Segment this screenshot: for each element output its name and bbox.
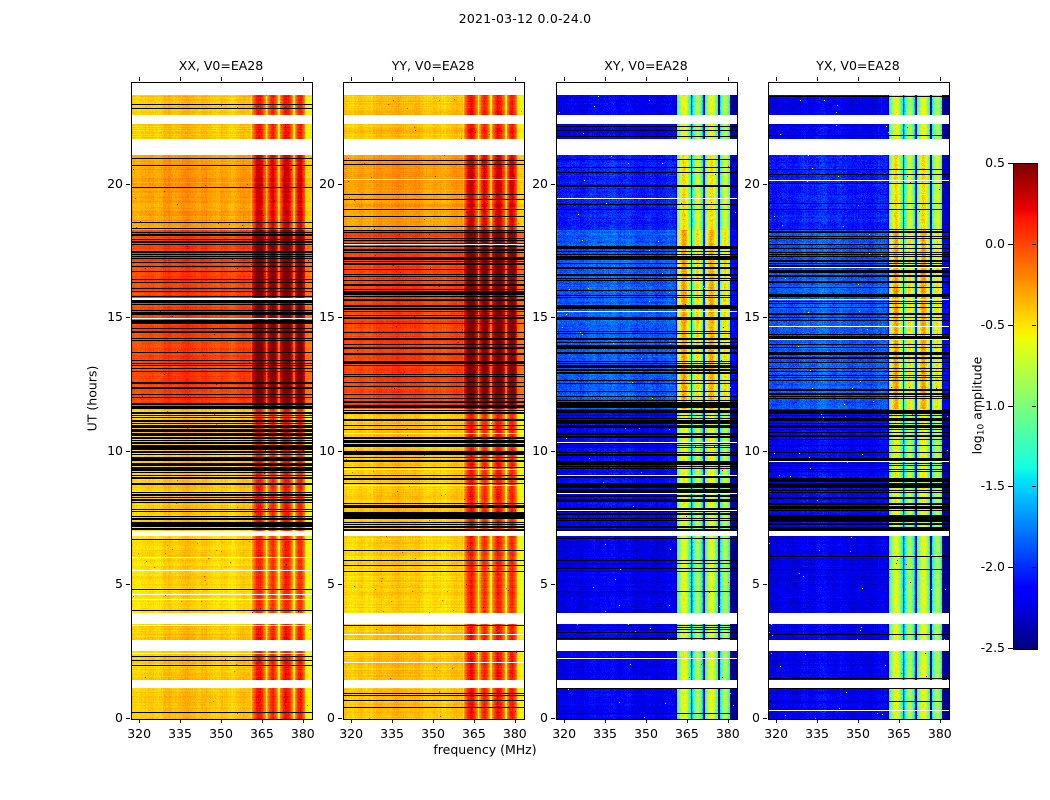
waterfall-panel-yx[interactable] bbox=[768, 82, 950, 720]
panel-title-yy: YY, V0=EA28 bbox=[343, 58, 523, 73]
y-tick-xx-5 bbox=[126, 584, 130, 585]
y-tick-yy-5 bbox=[338, 584, 342, 585]
y-ticklabel-xy-0: 0 bbox=[494, 710, 548, 725]
x-tick-yx-365 bbox=[899, 719, 900, 723]
colorbar-tick-neg0p5 bbox=[1008, 325, 1013, 326]
x-tick-yx-350 bbox=[858, 719, 859, 723]
x-ticklabel-xx-380: 380 bbox=[278, 726, 328, 741]
y-tick-yx-0 bbox=[763, 718, 767, 719]
colorbar-tick-neg1 bbox=[1008, 406, 1013, 407]
x-tick-top-yx-380 bbox=[940, 77, 941, 81]
x-ticklabel-yy-380: 380 bbox=[490, 726, 540, 741]
colorbar-inner-tick-2 bbox=[1032, 325, 1036, 326]
y-tick-yx-5 bbox=[763, 584, 767, 585]
y-tick-xx-10 bbox=[126, 451, 130, 452]
colorbar-inner-tick-6 bbox=[1032, 648, 1036, 649]
x-tick-top-xy-350 bbox=[646, 77, 647, 81]
x-tick-top-xy-365 bbox=[687, 77, 688, 81]
colorbar-tick-0 bbox=[1008, 244, 1013, 245]
x-tick-top-xx-350 bbox=[221, 77, 222, 81]
x-ticklabel-xy-380: 380 bbox=[703, 726, 753, 741]
x-tick-top-yy-320 bbox=[351, 77, 352, 81]
y-tick-xy-0 bbox=[551, 718, 555, 719]
y-ticklabel-yx-5: 5 bbox=[706, 576, 760, 591]
x-tick-xx-365 bbox=[262, 719, 263, 723]
colorbar-ticklabel-1: 0.0 bbox=[949, 236, 1005, 251]
x-tick-top-xx-320 bbox=[139, 77, 140, 81]
colorbar-inner-tick-1 bbox=[1032, 244, 1036, 245]
x-tick-xy-350 bbox=[646, 719, 647, 723]
colorbar-label-subscript: 10 bbox=[977, 423, 987, 434]
y-tick-yy-10 bbox=[338, 451, 342, 452]
colorbar-inner-tick-3 bbox=[1032, 406, 1036, 407]
x-tick-xx-350 bbox=[221, 719, 222, 723]
heatmap-canvas-yx bbox=[769, 83, 949, 719]
colorbar-tick-neg2p5 bbox=[1008, 648, 1013, 649]
x-tick-top-xy-320 bbox=[564, 77, 565, 81]
y-ticklabel-yy-0: 0 bbox=[281, 710, 335, 725]
x-tick-xy-365 bbox=[687, 719, 688, 723]
waterfall-image-yx bbox=[769, 83, 949, 719]
x-ticklabel-yx-380: 380 bbox=[915, 726, 965, 741]
y-ticklabel-yx-0: 0 bbox=[706, 710, 760, 725]
y-ticklabel-yy-10: 10 bbox=[281, 443, 335, 458]
y-tick-yy-15 bbox=[338, 317, 342, 318]
x-tick-top-xx-380 bbox=[303, 77, 304, 81]
colorbar-inner-tick-4 bbox=[1032, 486, 1036, 487]
figure-root: 2021-03-12 0.0-24.0 XX, V0=EA28320335350… bbox=[0, 0, 1050, 800]
colorbar-ticklabel-5: -2.0 bbox=[949, 559, 1005, 574]
x-tick-top-yx-350 bbox=[858, 77, 859, 81]
x-tick-top-yx-335 bbox=[817, 77, 818, 81]
y-tick-xy-15 bbox=[551, 317, 555, 318]
colorbar-inner-tick-0 bbox=[1032, 163, 1036, 164]
x-tick-yy-350 bbox=[433, 719, 434, 723]
y-ticklabel-xy-20: 20 bbox=[494, 176, 548, 191]
colorbar-ticklabel-6: -2.5 bbox=[949, 640, 1005, 655]
y-ticklabel-xy-10: 10 bbox=[494, 443, 548, 458]
x-tick-xx-335 bbox=[180, 719, 181, 723]
x-tick-xx-320 bbox=[139, 719, 140, 723]
colorbar-inner-tick-5 bbox=[1032, 567, 1036, 568]
y-tick-yy-0 bbox=[338, 718, 342, 719]
y-ticklabel-yy-20: 20 bbox=[281, 176, 335, 191]
colorbar-label-text: log10 amplitude bbox=[970, 356, 985, 454]
x-tick-top-yy-335 bbox=[392, 77, 393, 81]
x-tick-yx-380 bbox=[940, 719, 941, 723]
y-tick-xy-5 bbox=[551, 584, 555, 585]
y-ticklabel-xx-5: 5 bbox=[69, 576, 123, 591]
x-tick-xy-335 bbox=[605, 719, 606, 723]
panel-title-xx: XX, V0=EA28 bbox=[131, 58, 311, 73]
y-tick-yy-20 bbox=[338, 184, 342, 185]
x-tick-top-xx-335 bbox=[180, 77, 181, 81]
x-axis-label: frequency (MHz) bbox=[335, 742, 635, 757]
x-tick-yy-365 bbox=[474, 719, 475, 723]
colorbar-tick-neg2 bbox=[1008, 567, 1013, 568]
colorbar-ticklabel-0: 0.5 bbox=[949, 155, 1005, 170]
y-ticklabel-xy-15: 15 bbox=[494, 309, 548, 324]
y-ticklabel-xy-5: 5 bbox=[494, 576, 548, 591]
y-ticklabel-yy-15: 15 bbox=[281, 309, 335, 324]
x-tick-top-xy-335 bbox=[605, 77, 606, 81]
y-ticklabel-xx-0: 0 bbox=[69, 710, 123, 725]
y-tick-yx-15 bbox=[763, 317, 767, 318]
x-tick-yy-335 bbox=[392, 719, 393, 723]
x-tick-yx-335 bbox=[817, 719, 818, 723]
x-tick-xy-320 bbox=[564, 719, 565, 723]
y-ticklabel-yx-10: 10 bbox=[706, 443, 760, 458]
figure-suptitle: 2021-03-12 0.0-24.0 bbox=[0, 11, 1050, 26]
x-tick-top-yx-365 bbox=[899, 77, 900, 81]
panel-title-yx: YX, V0=EA28 bbox=[768, 58, 948, 73]
y-tick-yx-10 bbox=[763, 451, 767, 452]
y-tick-xx-15 bbox=[126, 317, 130, 318]
x-tick-top-yy-350 bbox=[433, 77, 434, 81]
y-ticklabel-xx-20: 20 bbox=[69, 176, 123, 191]
y-tick-xy-10 bbox=[551, 451, 555, 452]
x-tick-yy-320 bbox=[351, 719, 352, 723]
y-tick-xx-20 bbox=[126, 184, 130, 185]
y-ticklabel-yx-15: 15 bbox=[706, 309, 760, 324]
x-tick-yx-320 bbox=[776, 719, 777, 723]
x-tick-top-yy-380 bbox=[515, 77, 516, 81]
x-tick-top-xy-380 bbox=[728, 77, 729, 81]
y-tick-xy-20 bbox=[551, 184, 555, 185]
y-tick-xx-0 bbox=[126, 718, 130, 719]
x-tick-top-yx-320 bbox=[776, 77, 777, 81]
x-tick-top-xx-365 bbox=[262, 77, 263, 81]
x-tick-top-yy-365 bbox=[474, 77, 475, 81]
colorbar-tick-neg1p5 bbox=[1008, 486, 1013, 487]
panel-title-xy: XY, V0=EA28 bbox=[556, 58, 736, 73]
y-axis-label: UT (hours) bbox=[85, 299, 100, 499]
y-tick-yx-20 bbox=[763, 184, 767, 185]
colorbar-label: log10 amplitude bbox=[970, 275, 987, 535]
colorbar-tick-0p5 bbox=[1008, 163, 1013, 164]
y-ticklabel-yx-20: 20 bbox=[706, 176, 760, 191]
y-ticklabel-yy-5: 5 bbox=[281, 576, 335, 591]
